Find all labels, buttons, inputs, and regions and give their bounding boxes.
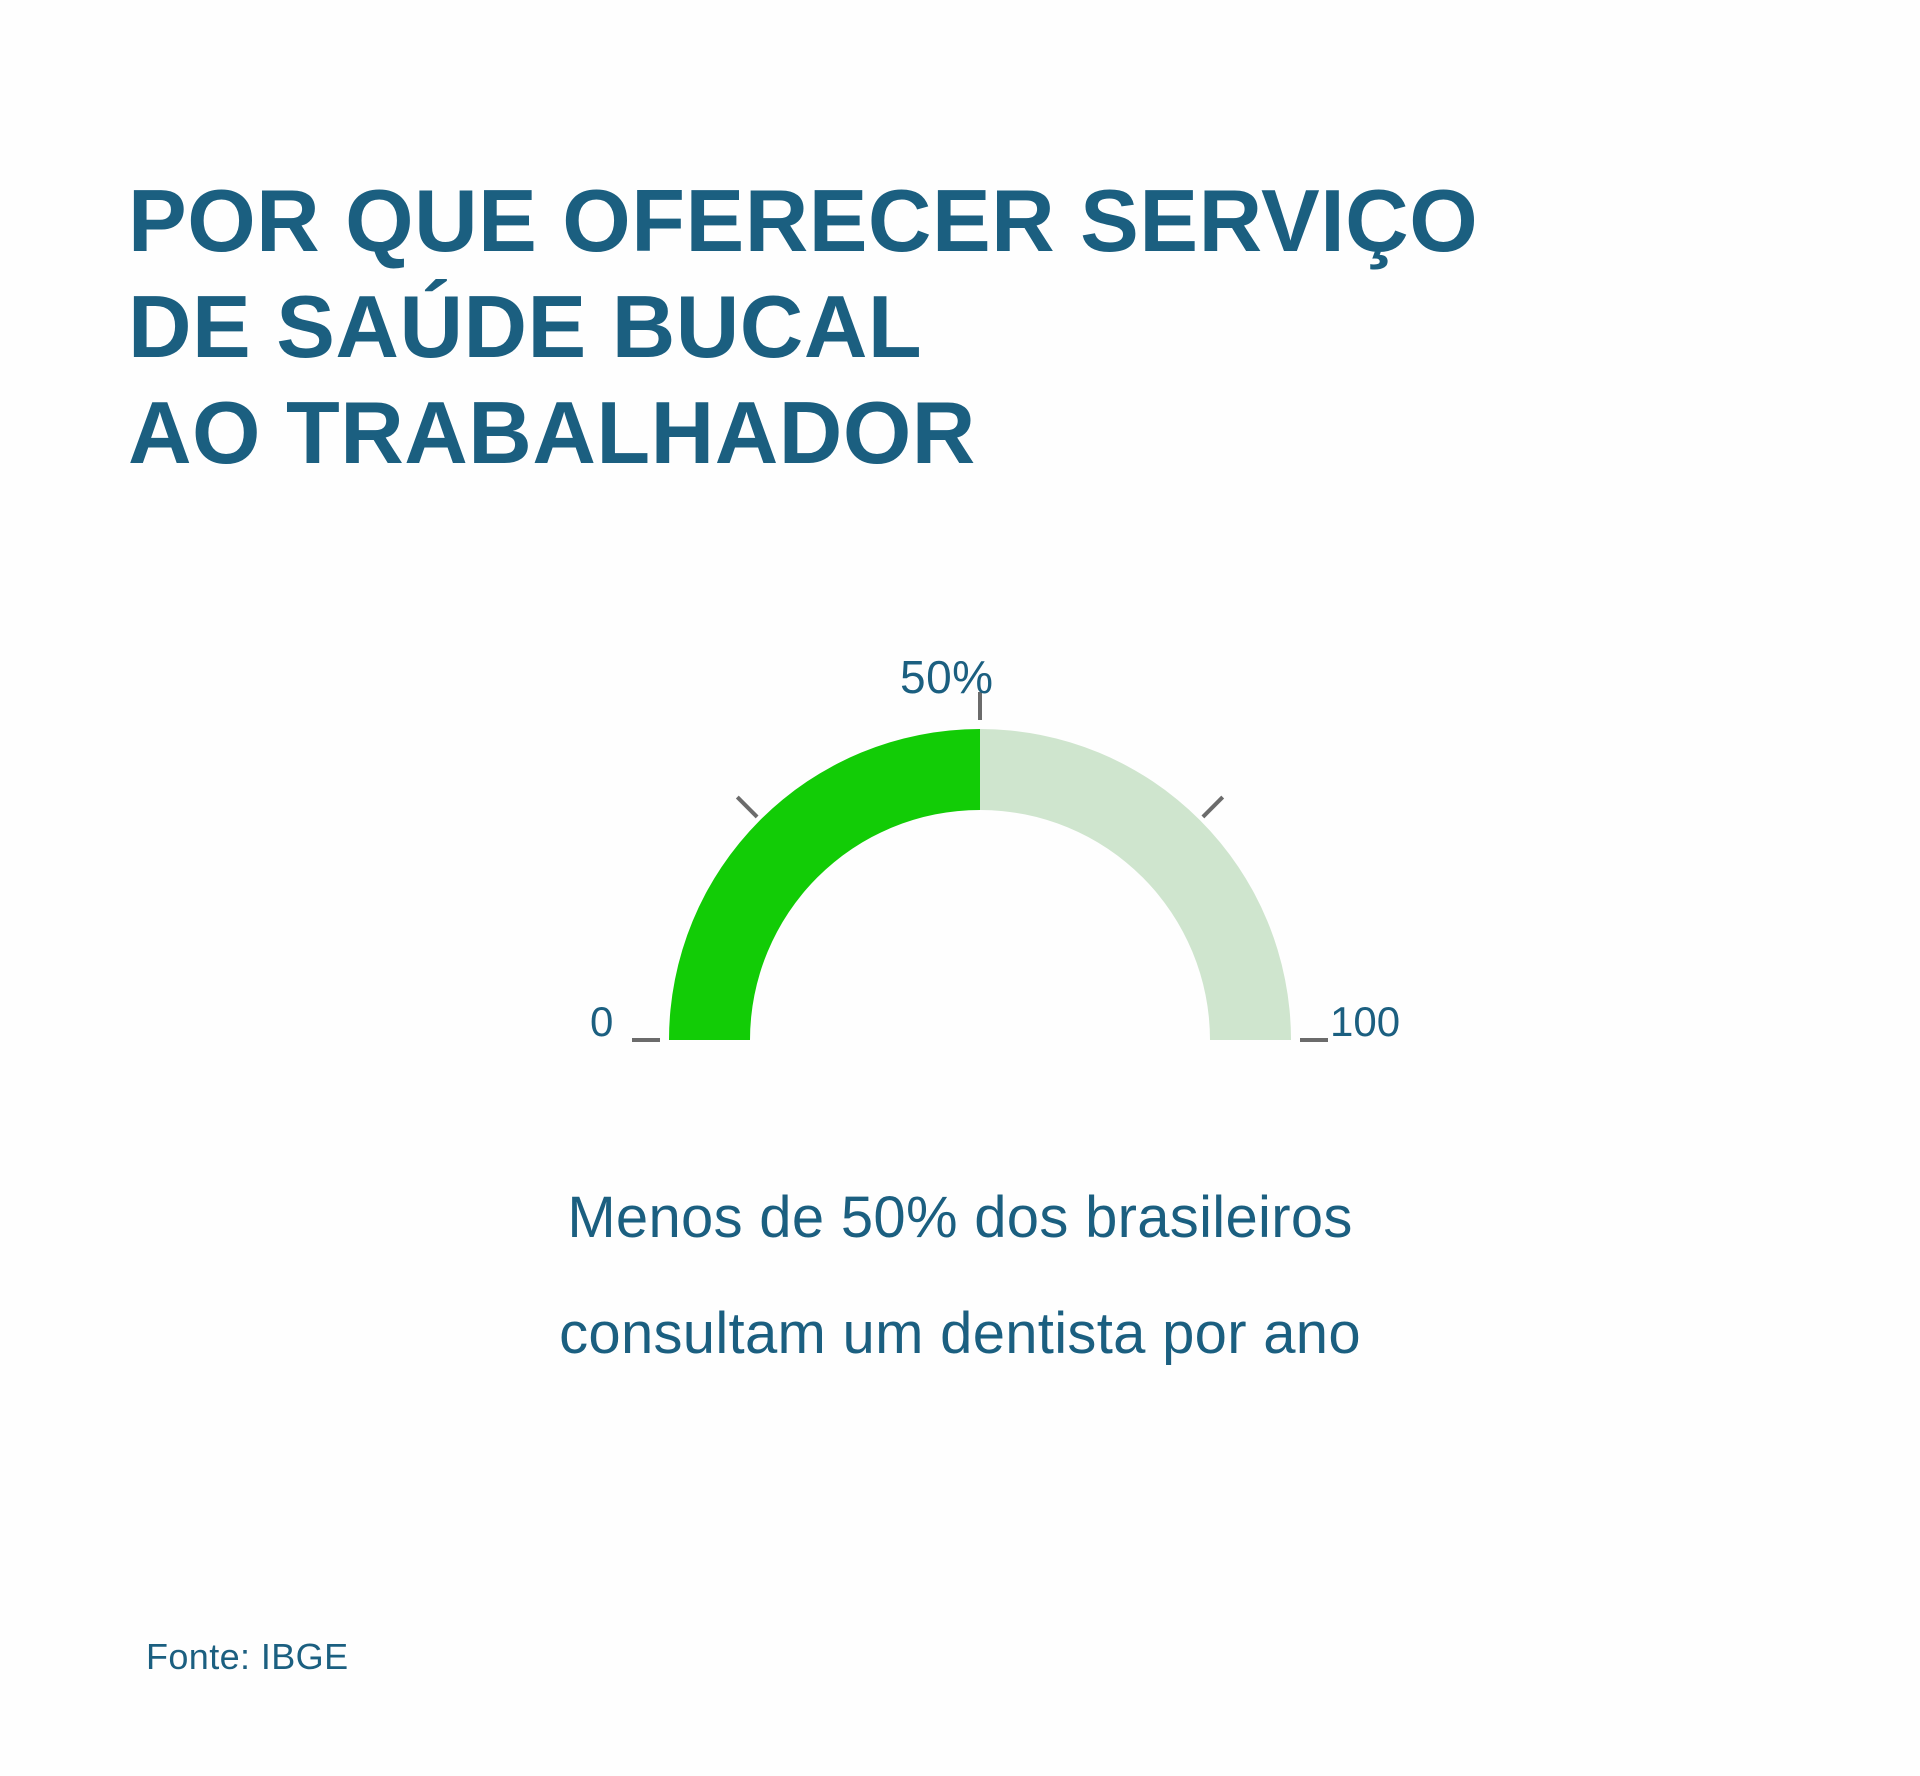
gauge-tick-25 <box>737 797 757 817</box>
source-label: Fonte: IBGE <box>146 1636 349 1678</box>
title-line-1: POR QUE OFERECER SERVIÇO <box>128 168 1688 274</box>
gauge-chart: 50% <box>0 620 1920 1090</box>
title-line-2: DE SAÚDE BUCAL <box>128 274 1688 380</box>
title-line-3: AO TRABALHADOR <box>128 380 1688 486</box>
gauge-min-label: 0 <box>590 998 613 1046</box>
infographic-page: POR QUE OFERECER SERVIÇO DE SAÚDE BUCAL … <box>0 0 1920 1776</box>
caption-line-2: consultam um dentista por ano <box>0 1276 1920 1392</box>
gauge-tick-75 <box>1203 797 1223 817</box>
gauge-track-arc <box>980 729 1291 1040</box>
page-title: POR QUE OFERECER SERVIÇO DE SAÚDE BUCAL … <box>128 168 1688 486</box>
gauge-max-label: 100 <box>1330 998 1400 1046</box>
gauge-caption: Menos de 50% dos brasileiros consultam u… <box>0 1160 1920 1392</box>
gauge-value-label: 50% <box>900 650 994 704</box>
caption-line-1: Menos de 50% dos brasileiros <box>0 1160 1920 1276</box>
gauge-filled-arc <box>669 729 980 1040</box>
